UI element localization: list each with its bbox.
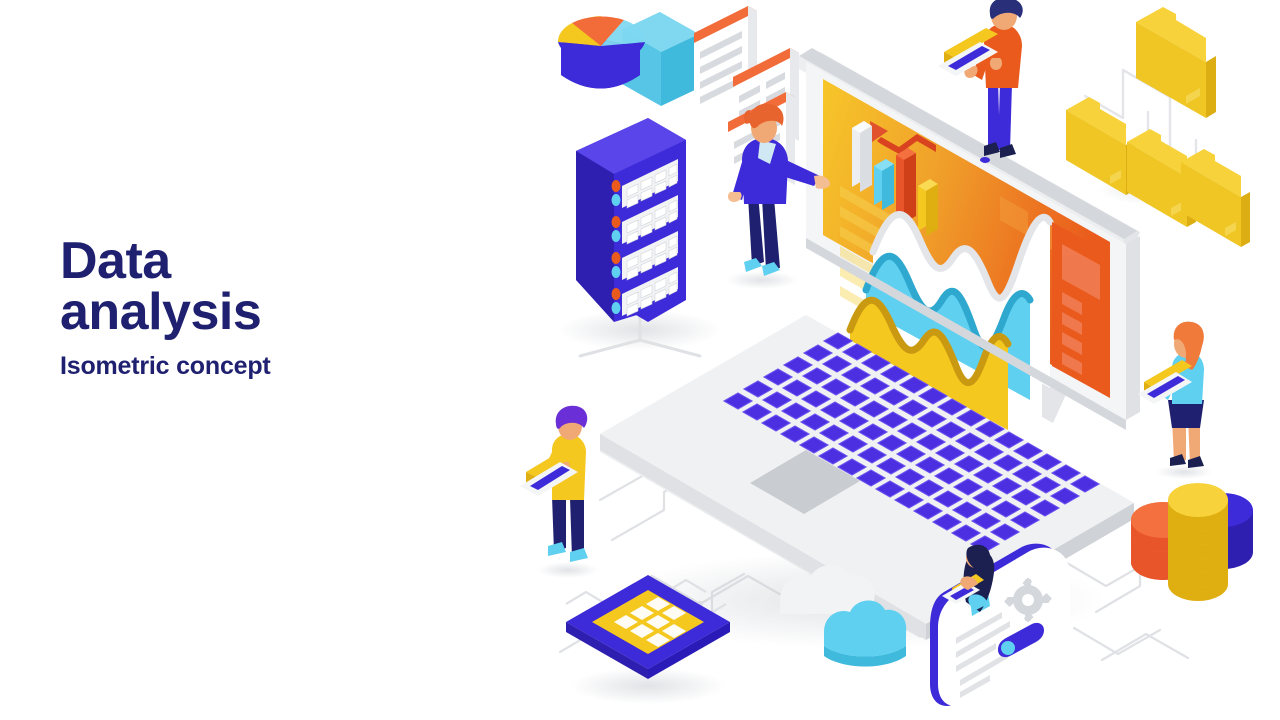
led-cyan-icon (612, 230, 621, 242)
pie-chart (556, 10, 699, 106)
led-cyan-icon (612, 302, 621, 314)
led-orange-icon (612, 288, 621, 300)
database-stacks (1131, 483, 1253, 601)
led-orange-icon (612, 216, 621, 228)
illustration-canvas: Data analysis Isometric concept (0, 0, 1280, 720)
led-cyan-icon (612, 266, 621, 278)
bar (874, 159, 894, 210)
folder-icon (1066, 97, 1135, 195)
character-youth-left (520, 406, 598, 578)
bar (918, 179, 938, 236)
character-woman-right (1138, 322, 1212, 479)
cpu-chip (566, 575, 730, 679)
led-orange-icon (612, 180, 621, 192)
coin-stack (1168, 483, 1228, 601)
led-cyan-icon (612, 194, 621, 206)
bar (852, 121, 872, 192)
isometric-artwork (0, 0, 1280, 720)
led-orange-icon (612, 252, 621, 264)
folder-icon (1181, 149, 1250, 247)
folder-icon (1134, 0, 1216, 118)
